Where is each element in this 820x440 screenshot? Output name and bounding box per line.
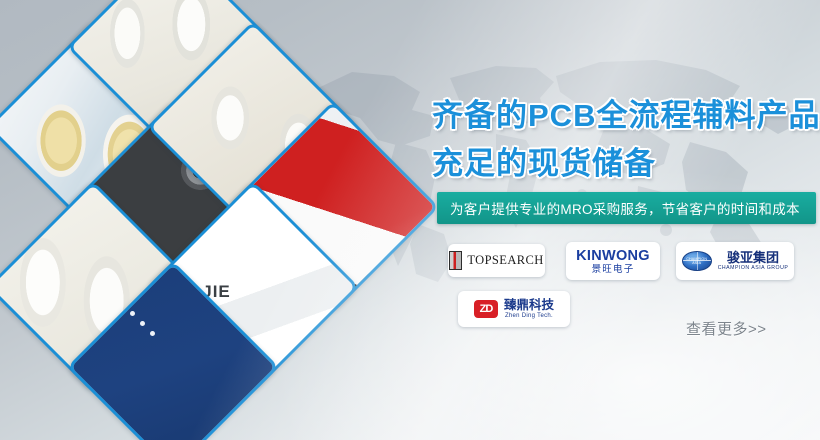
logo-champion-asia[interactable]: CHAMPION ASIA 骏亚集团 CHAMPION ASIA GROUP: [676, 242, 794, 280]
topsearch-book-icon: [449, 251, 462, 270]
subtitle-text: 为客户提供专业的MRO采购服务，节省客户的时间和成本: [450, 198, 800, 218]
logo-topsearch-label: TOPSEARCH: [467, 253, 543, 268]
logo-kinwong[interactable]: KINWONG 景旺电子: [566, 242, 660, 280]
logo-champion-en-label: CHAMPION ASIA GROUP: [718, 265, 789, 272]
globe-icon-text: CHAMPION ASIA: [683, 257, 711, 265]
logo-kinwong-wordmark: KINWONG: [576, 248, 650, 264]
headline-line-1: 齐备的PCB全流程辅料产品、: [432, 92, 820, 140]
logo-zhen-ding-cn-label: 臻鼎科技: [504, 298, 554, 312]
logo-zhen-ding-en-label: Zhen Ding Tech.: [505, 312, 553, 320]
zhen-ding-mark-icon: ZD: [474, 300, 498, 318]
logo-topsearch[interactable]: TOPSEARCH: [448, 244, 545, 277]
product-photo-collage: JIE: [0, 0, 430, 440]
champion-asia-globe-icon: CHAMPION ASIA: [682, 251, 712, 271]
view-more-link[interactable]: 查看更多>>: [686, 318, 767, 339]
subtitle-bar: 为客户提供专业的MRO采购服务，节省客户的时间和成本: [437, 192, 816, 224]
logo-champion-cn-label: 骏亚集团: [727, 251, 779, 265]
logo-kinwong-cn-label: 景旺电子: [592, 264, 635, 275]
promotional-banner: JIE 齐备的PCB全流程辅料产品、 充足的现货储备 为客户提供专业的MRO采购…: [0, 0, 820, 440]
logo-zhen-ding[interactable]: ZD 臻鼎科技 Zhen Ding Tech.: [458, 291, 570, 327]
headline-line-2: 充足的现货储备: [432, 140, 820, 188]
headline: 齐备的PCB全流程辅料产品、 充足的现货储备: [432, 92, 820, 188]
